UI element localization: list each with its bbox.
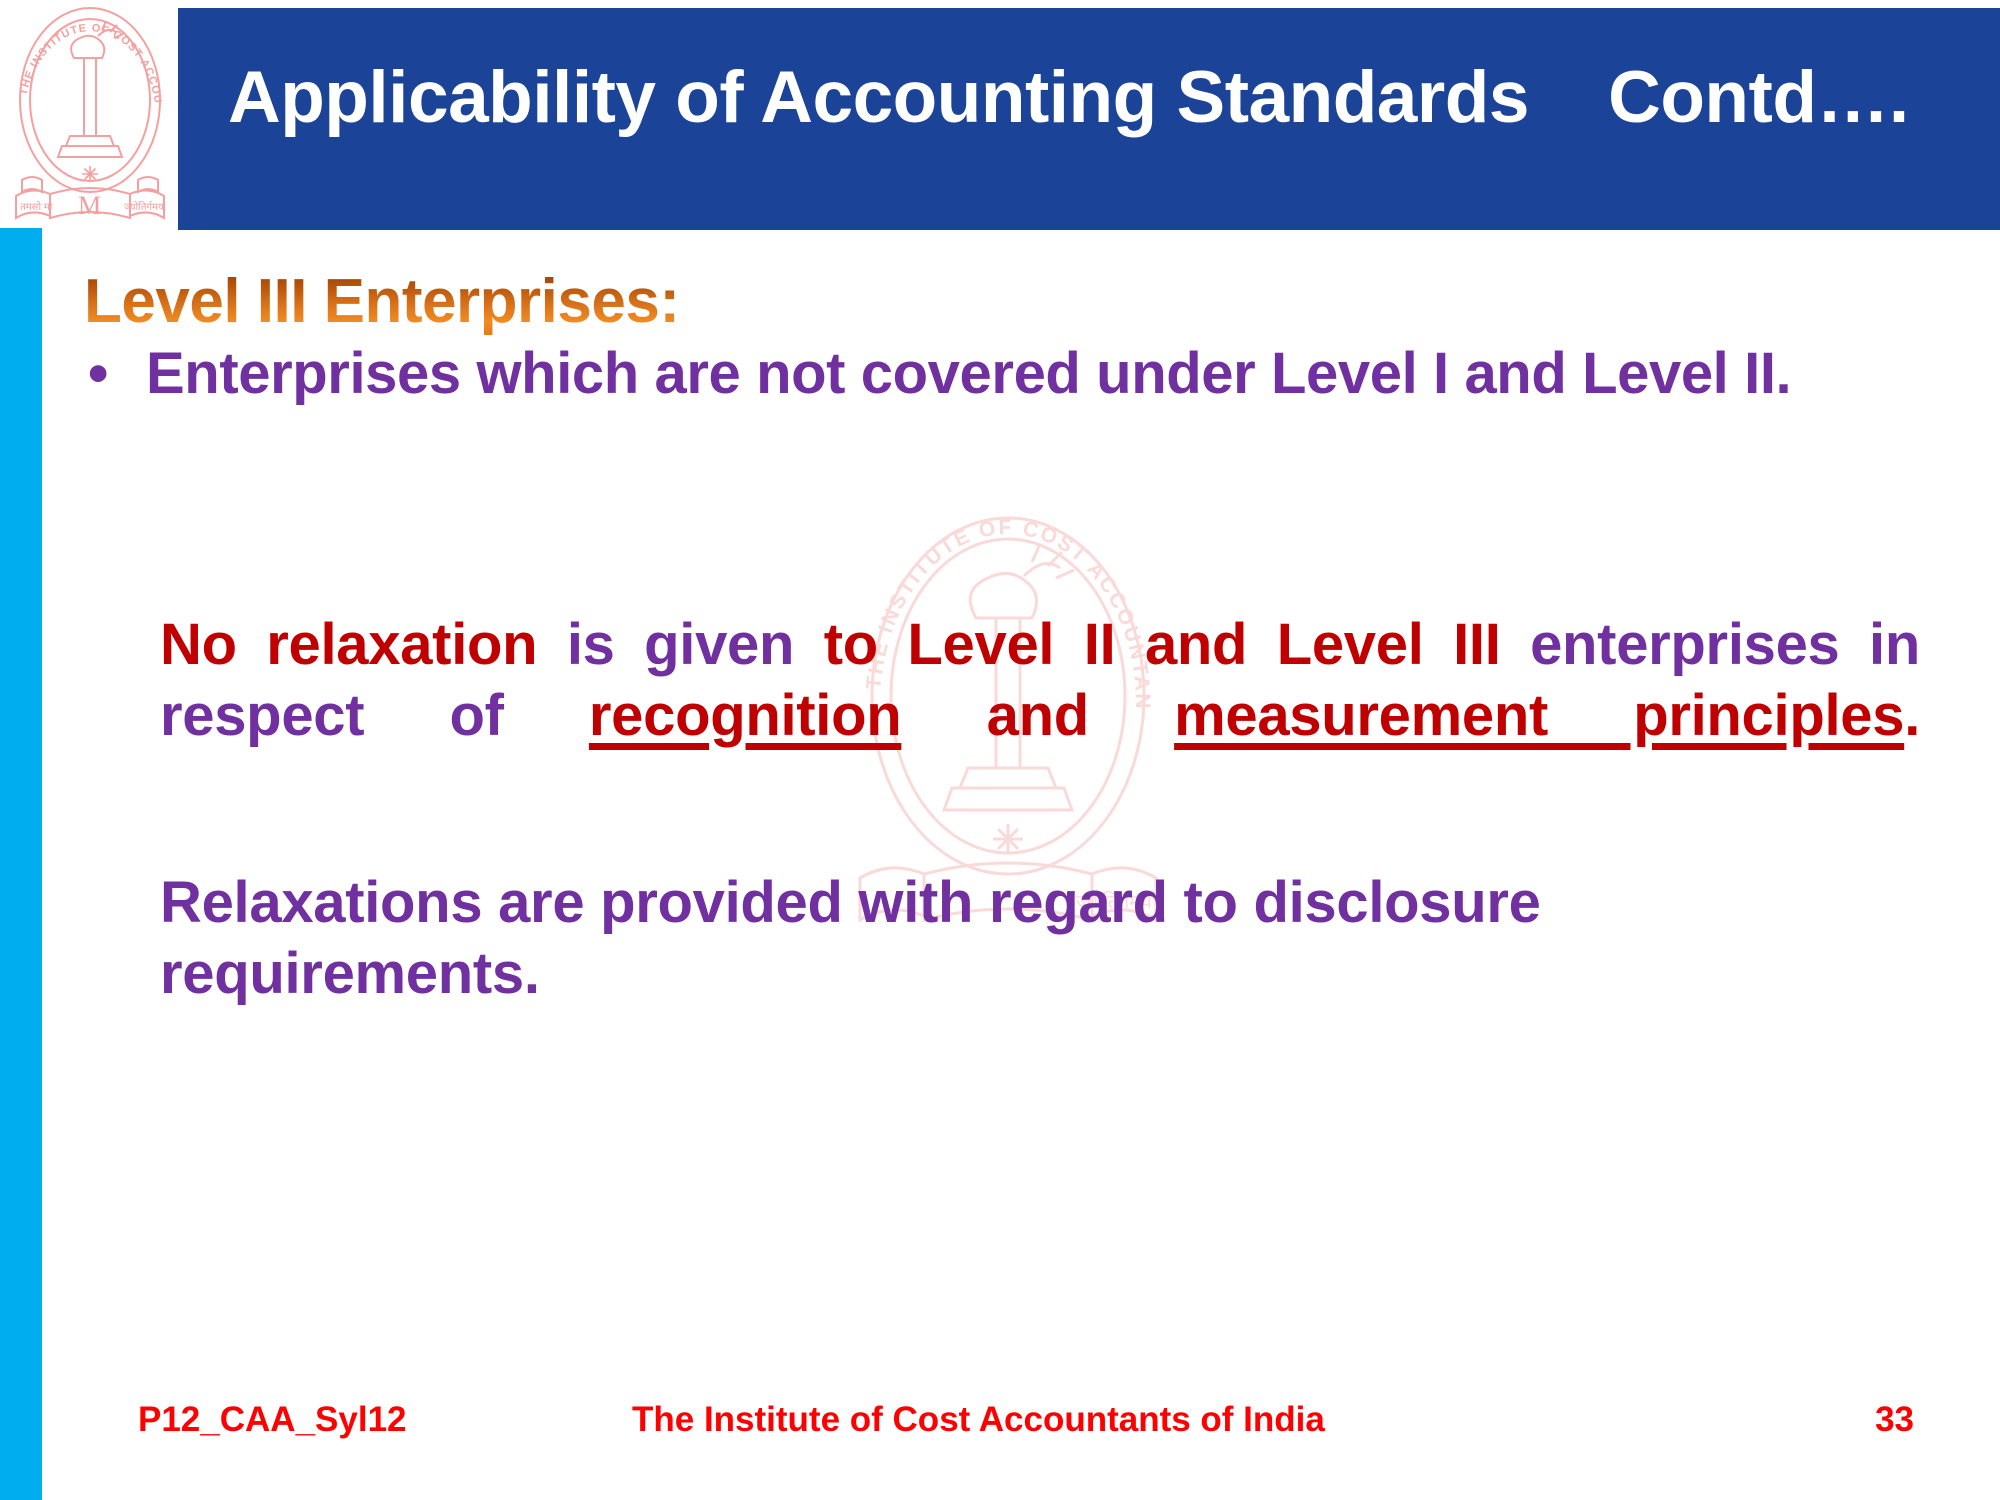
run-is-given: is given	[567, 612, 824, 677]
run-to-level-ii-and-level-iii: to Level II and Level III	[824, 612, 1530, 677]
footer-page-number: 33	[1875, 1400, 1914, 1440]
svg-text:M: M	[78, 191, 101, 220]
run-no-relaxation: No relaxation	[160, 612, 567, 677]
section-heading: Level III Enterprises:	[84, 266, 679, 337]
institute-logo-icon: THE INSTITUTE OF COST ACCOUNTANTS OF IND…	[2, 0, 178, 228]
svg-text:तमसो मा: तमसो मा	[20, 201, 53, 213]
bullet-list-item: • Enterprises which are not covered unde…	[84, 340, 1944, 408]
run-full-stop: .	[1904, 683, 1920, 748]
slide-canvas: Applicability of Accounting Standards Co…	[0, 0, 2000, 1500]
run-recognition-underlined: recognition	[589, 683, 901, 748]
footer-subject-code: P12_CAA_Syl12	[138, 1400, 407, 1440]
slide-body: Level III Enterprises: • Enterprises whi…	[0, 236, 2000, 1396]
run-measurement-principles-underlined: measurement principles	[1174, 683, 1904, 748]
bullet-item-text: Enterprises which are not covered under …	[146, 340, 1944, 408]
footer-institute-name: The Institute of Cost Accountants of Ind…	[632, 1400, 1325, 1440]
bullet-marker-icon: •	[84, 340, 146, 408]
paragraph-relaxations: Relaxations are provided with regard to …	[160, 868, 1920, 1010]
page-title: Applicability of Accounting Standards Co…	[228, 56, 1988, 140]
slide-footer: P12_CAA_Syl12 The Institute of Cost Acco…	[0, 1400, 2000, 1470]
run-and: and	[987, 683, 1174, 748]
svg-text:ज्योतिर्गमय: ज्योतिर्गमय	[124, 201, 164, 213]
run-space-after-recognition	[901, 683, 986, 748]
paragraph-no-relaxation: No relaxation is given to Level II and L…	[160, 610, 1920, 822]
